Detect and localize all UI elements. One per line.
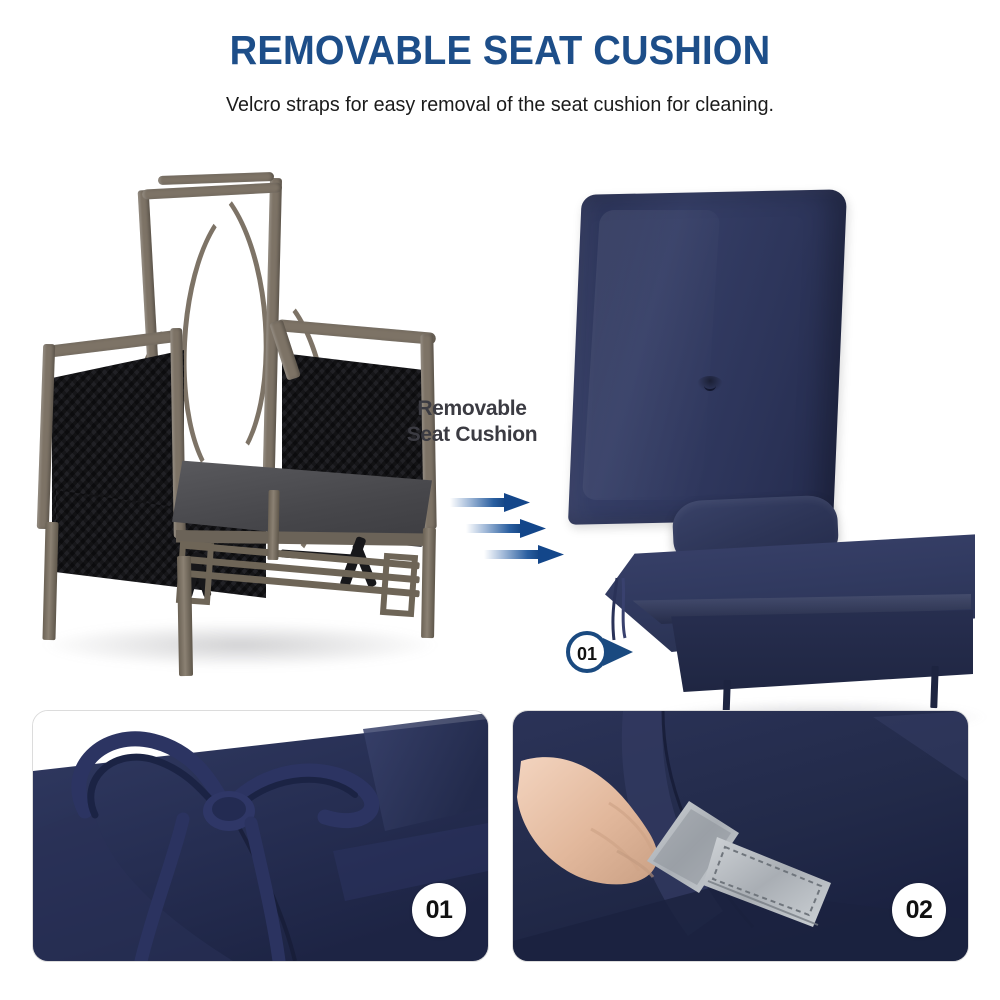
hero-section: Removable Seat Cushion [0, 150, 1000, 695]
detail-panel-tie-strap: 01 [32, 710, 489, 962]
chair-leg-back-right [421, 528, 436, 638]
arrow-right-icon-2 [466, 519, 546, 538]
cushion-tuft-button [697, 376, 723, 392]
cushion-base-skirt [665, 610, 973, 692]
page-title: REMOVABLE SEAT CUSHION [35, 27, 965, 74]
chair-leg-back-left [267, 490, 279, 560]
page-subtitle: Velcro straps for easy removal of the se… [20, 93, 980, 117]
callout-badge-01: 01 [563, 629, 637, 675]
panel-badge-02: 02 [892, 883, 946, 937]
removable-cushion-annotation: Removable Seat Cushion [372, 396, 572, 447]
product-infographic: REMOVABLE SEAT CUSHION Velcro straps for… [0, 0, 1000, 1000]
panel-badge-01: 01 [412, 883, 466, 937]
chair-leg-front-right [177, 556, 193, 676]
annotation-line-2: Seat Cushion [372, 422, 572, 448]
cushion-set-illustration [545, 180, 985, 680]
annotation-line-1: Removable [372, 396, 572, 422]
cushion-base-leg-rear [930, 666, 938, 708]
back-cushion-highlight [582, 210, 720, 500]
base-frame-box-right [380, 553, 418, 617]
callout-01-number: 01 [577, 644, 597, 664]
detail-panel-velcro: 02 [512, 710, 969, 962]
chair-floor-shadow [40, 622, 440, 668]
arrow-right-icon-1 [450, 493, 530, 512]
